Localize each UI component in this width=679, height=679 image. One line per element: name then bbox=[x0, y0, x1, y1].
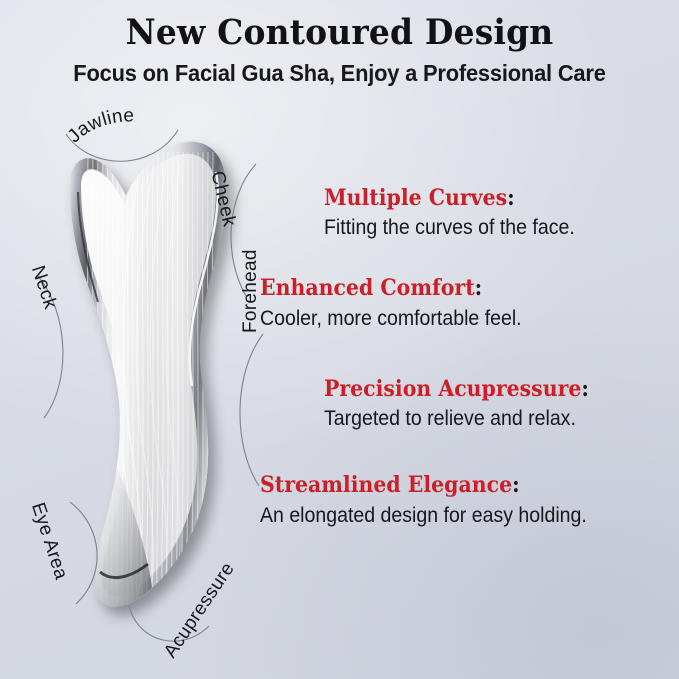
feature-heading-colon: : bbox=[507, 185, 515, 211]
feature-body: Targeted to relieve and relax. bbox=[324, 406, 651, 431]
feature-heading-colon: : bbox=[581, 376, 589, 402]
feature-item-streamlined-elegance: Streamlined Elegance: An elongated desig… bbox=[260, 473, 676, 527]
part-label-forehead: Forehead bbox=[240, 249, 262, 333]
svg-text:Jawline: Jawline bbox=[64, 105, 135, 147]
page-subtitle: Focus on Facial Gua Sha, Enjoy a Profess… bbox=[24, 61, 655, 87]
feature-heading-colon: : bbox=[475, 275, 483, 301]
feature-list: Multiple Curves: Fitting the curves of t… bbox=[260, 186, 676, 556]
feature-item-enhanced-comfort: Enhanced Comfort: Cooler, more comfortab… bbox=[260, 276, 676, 330]
feature-heading: Enhanced Comfort: bbox=[260, 276, 647, 301]
feature-item-multiple-curves: Multiple Curves: Fitting the curves of t… bbox=[260, 186, 676, 240]
feature-heading-text: Multiple Curves bbox=[324, 185, 507, 211]
feature-item-precision-acupressure: Precision Acupressure: Targeted to relie… bbox=[260, 377, 676, 431]
feature-heading-text: Enhanced Comfort bbox=[260, 275, 475, 301]
feature-heading: Streamlined Elegance: bbox=[260, 473, 647, 498]
product-infographic: New Contoured Design Focus on Facial Gua… bbox=[0, 0, 679, 679]
header: New Contoured Design Focus on Facial Gua… bbox=[0, 0, 679, 87]
feature-body: Cooler, more comfortable feel. bbox=[260, 306, 647, 331]
page-title: New Contoured Design bbox=[20, 15, 658, 52]
part-label-jawline-text: Jawline bbox=[64, 105, 135, 147]
feature-heading: Multiple Curves: bbox=[324, 186, 651, 211]
feature-heading-text: Streamlined Elegance bbox=[260, 472, 512, 498]
part-label-jawline: Jawline bbox=[66, 112, 192, 162]
arc-eye-area bbox=[60, 498, 114, 608]
feature-heading: Precision Acupressure: bbox=[324, 377, 651, 402]
feature-body: An elongated design for easy holding. bbox=[260, 503, 647, 528]
feature-heading-colon: : bbox=[512, 472, 520, 498]
feature-body: Fitting the curves of the face. bbox=[324, 215, 651, 240]
feature-heading-text: Precision Acupressure bbox=[324, 376, 581, 402]
